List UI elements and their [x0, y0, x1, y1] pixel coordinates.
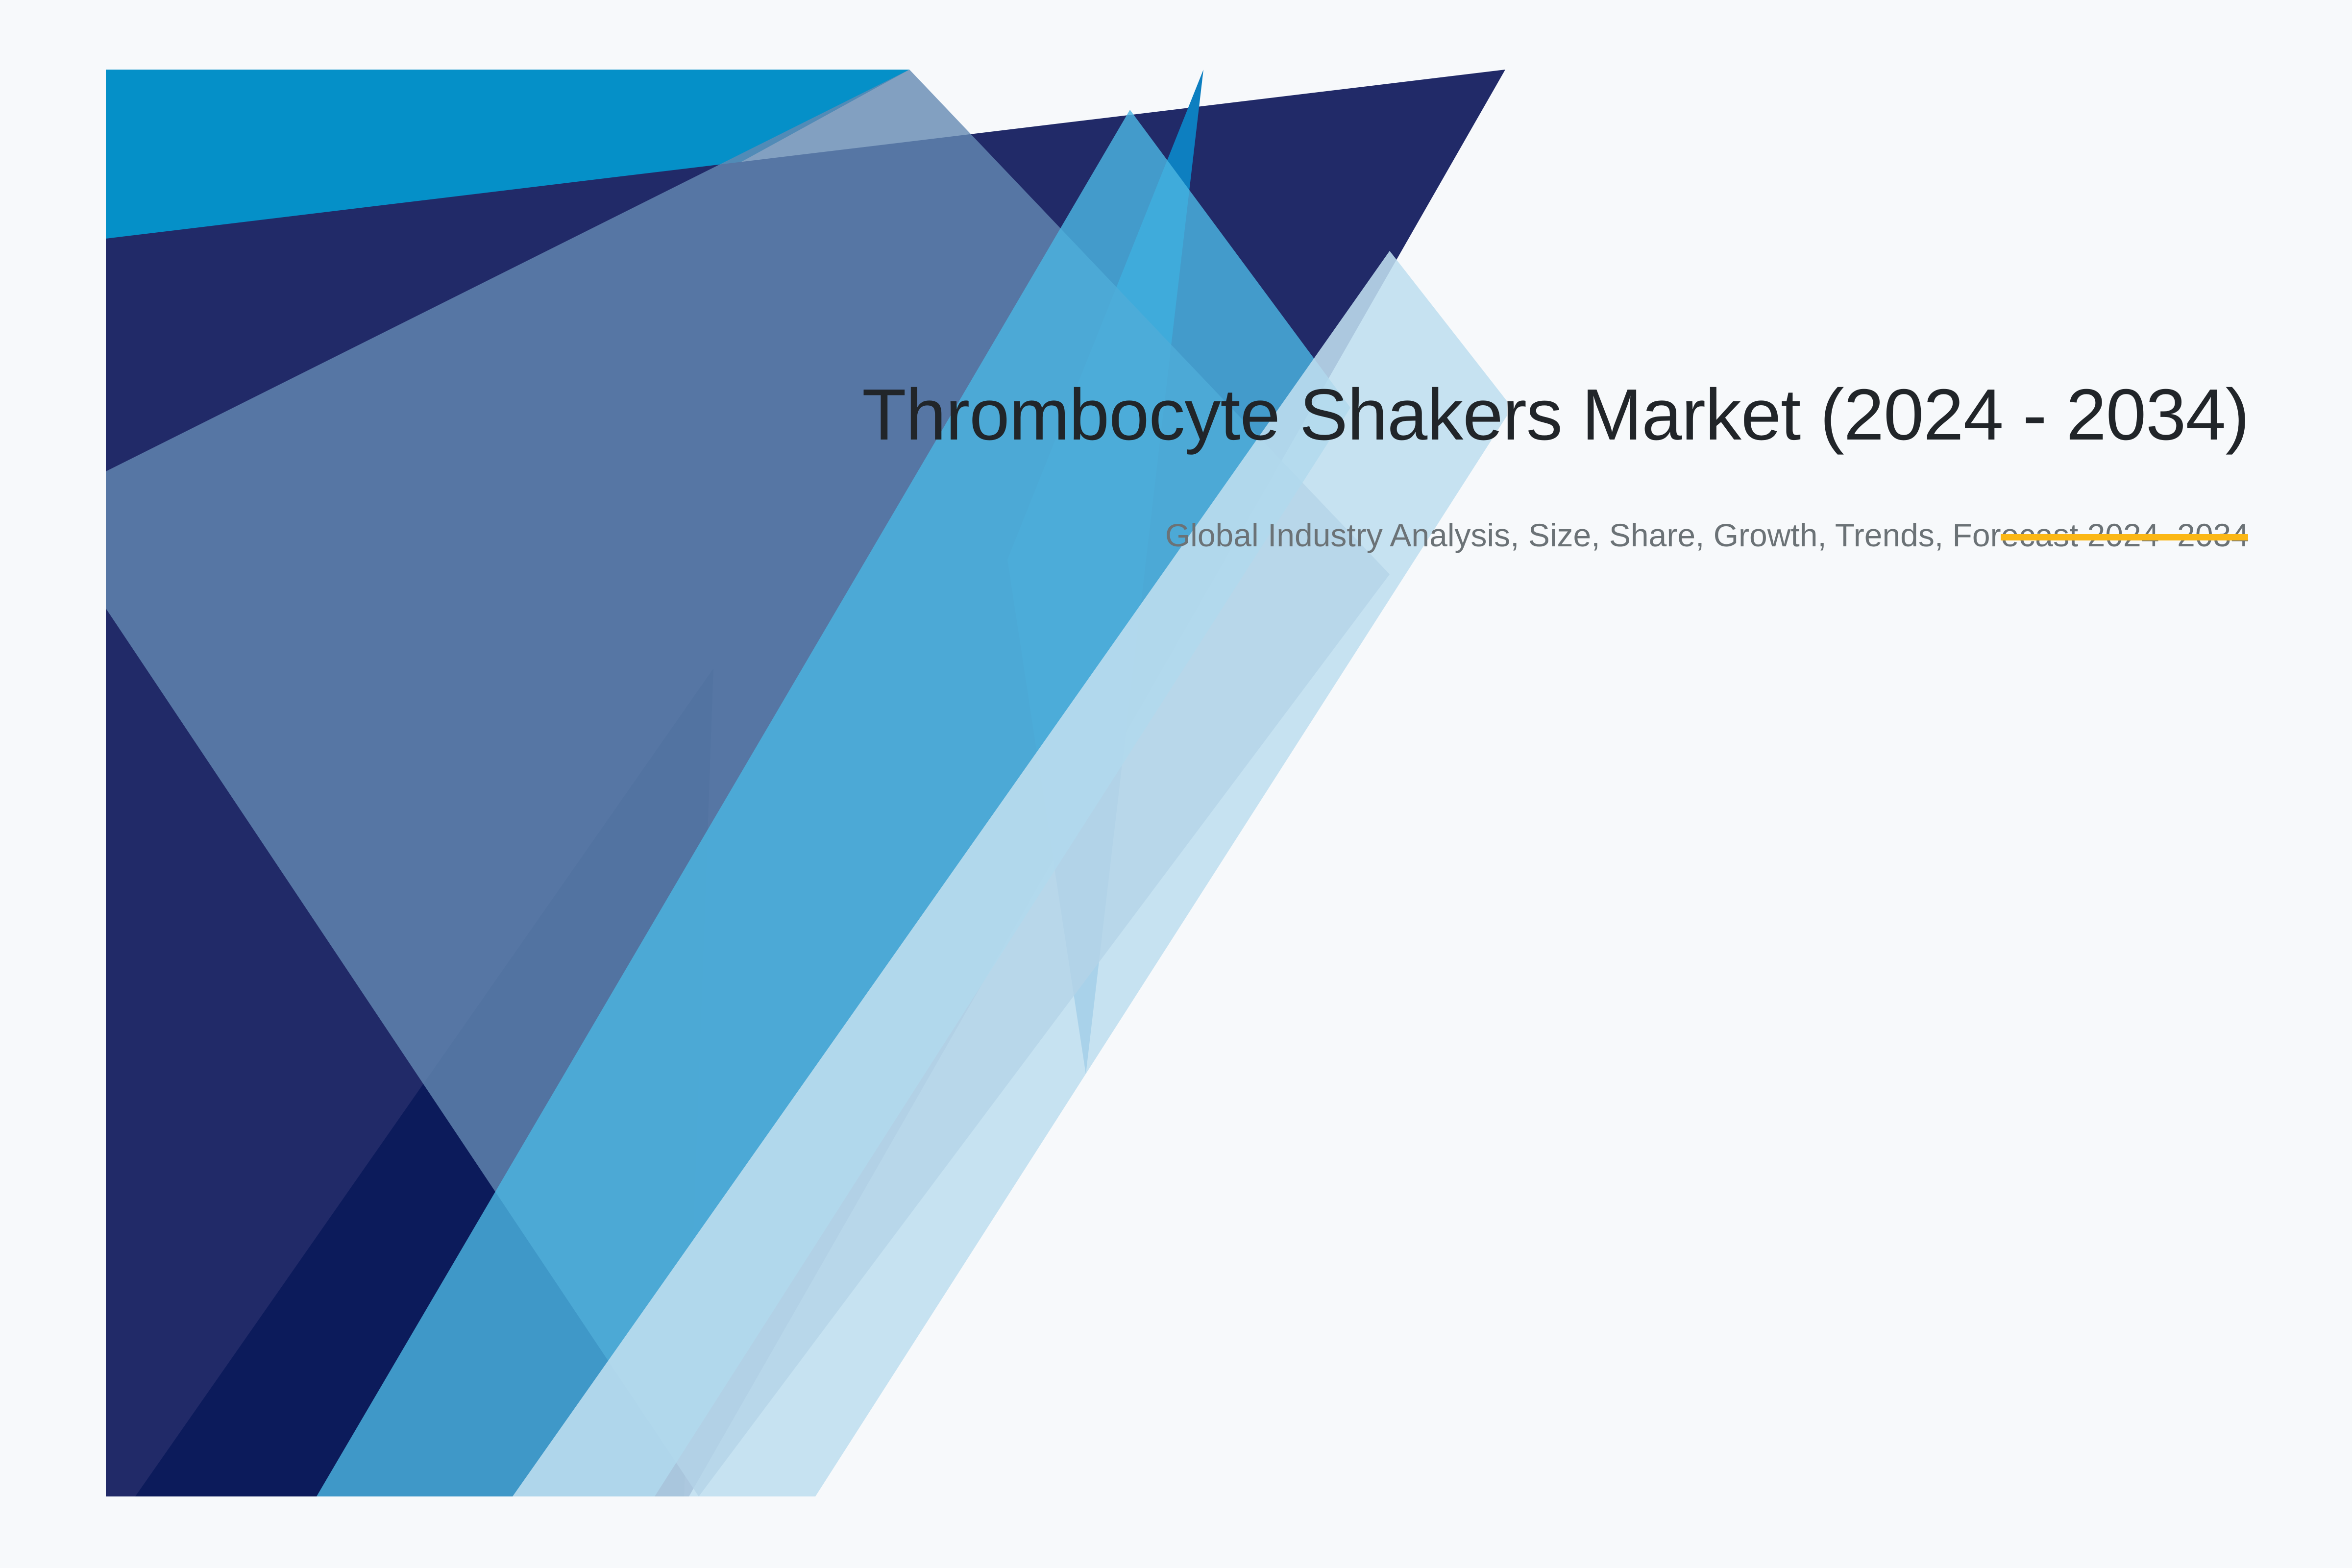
title-wrapper: Thrombocyte Shakers Market (2024 - 2034) — [833, 372, 2249, 457]
artwork-svg — [106, 70, 1507, 1496]
page-subtitle: Global Industry Analysis, Size, Share, G… — [833, 457, 2249, 557]
abstract-geometric-artwork — [106, 70, 1507, 1496]
cover-text-block: Thrombocyte Shakers Market (2024 - 2034)… — [833, 372, 2249, 557]
title-accent-underline — [2001, 534, 2248, 540]
page-title: Thrombocyte Shakers Market (2024 - 2034) — [833, 372, 2249, 457]
report-cover: Thrombocyte Shakers Market (2024 - 2034)… — [0, 0, 2352, 1568]
